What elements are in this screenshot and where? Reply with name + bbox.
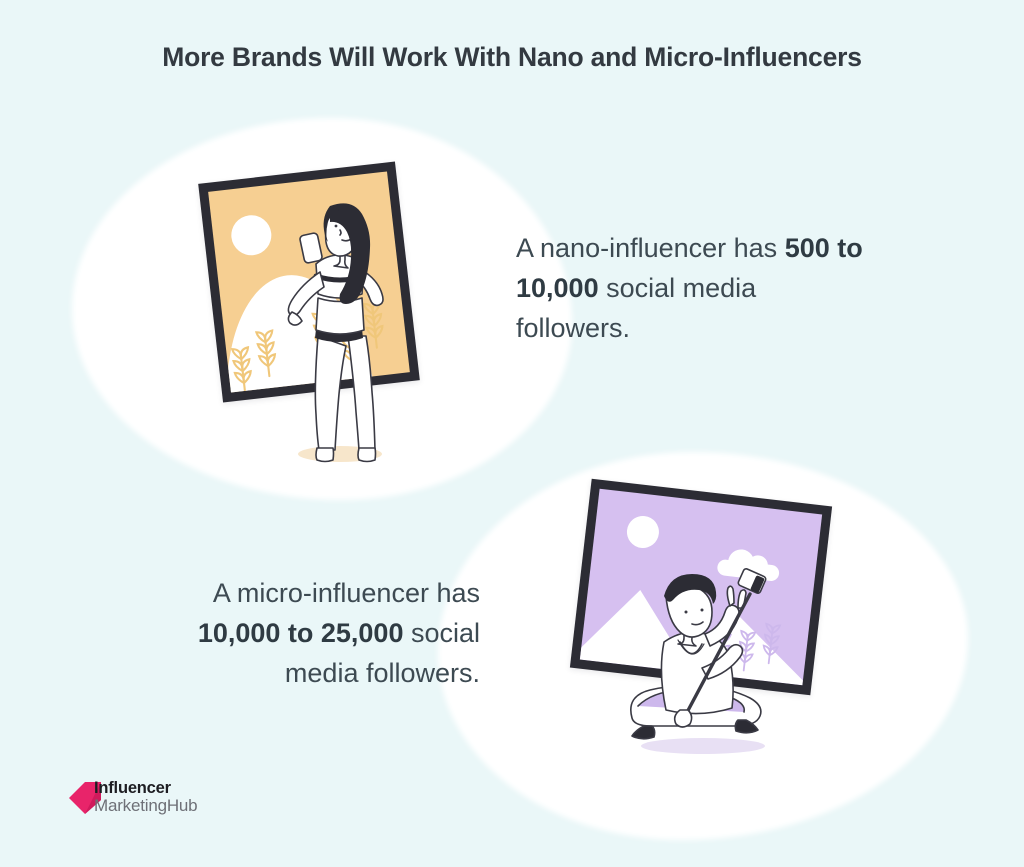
brand-logo[interactable]: Influencer MarketingHub	[68, 778, 197, 816]
sun-icon	[625, 514, 660, 549]
logo-line-marketinghub: MarketingHub	[94, 797, 197, 815]
micro-statement: A micro-influencer has 10,000 to 25,000 …	[132, 573, 480, 693]
page-title: More Brands Will Work With Nano and Micr…	[0, 42, 1024, 73]
infographic-canvas: More Brands Will Work With Nano and Micr…	[0, 0, 1024, 867]
nano-statement: A nano-influencer has 500 to 10,000 soci…	[516, 228, 876, 348]
nano-statement-lead: A nano-influencer has	[516, 233, 785, 263]
micro-influencer-figure	[598, 550, 813, 755]
logo-line-influencer: Influencer	[94, 780, 197, 797]
micro-statement-lead: A micro-influencer has	[213, 578, 480, 608]
nano-influencer-figure	[244, 186, 434, 466]
micro-statement-emphasis: 10,000 to 25,000	[198, 618, 404, 648]
